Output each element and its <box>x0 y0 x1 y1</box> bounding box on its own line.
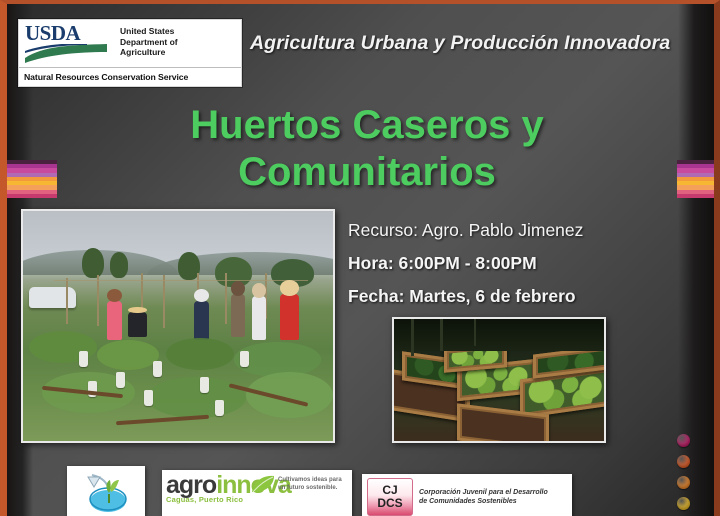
presentation-slide: USDA United States Department of Agricul… <box>0 0 720 516</box>
community-garden-scene <box>23 211 333 441</box>
community-garden-photo <box>21 209 335 443</box>
usda-line-2: Department of <box>120 37 178 48</box>
usda-agency-lines: United States Department of Agriculture <box>111 23 178 67</box>
page-title-line-2: Comunitarios <box>67 149 667 196</box>
agroinnova-tagline-line-1: Cultivamos ideas para <box>278 477 350 485</box>
cjdcs-initials-mark: CJ DCS <box>367 478 413 516</box>
decorative-stripes-right <box>677 160 720 198</box>
detail-fecha: Fecha: Martes, 6 de febrero <box>348 286 688 307</box>
raised-beds-photo <box>392 317 606 443</box>
usda-line-3: Agriculture <box>120 47 178 58</box>
car-in-photo <box>29 287 76 308</box>
raised-beds-scene <box>394 319 604 441</box>
cjdcs-name-line-1: Corporación Juvenil para el Desarrollo <box>419 488 548 497</box>
agroinnova-tagline: Cultivamos ideas para un futuro sostenib… <box>278 475 350 492</box>
cjdcs-logo: CJ DCS Corporación Juvenil para el Desar… <box>362 474 572 516</box>
agroinnova-logo: agroinnova Cultivamos ideas para un futu… <box>162 470 352 516</box>
detail-recurso: Recurso: Agro. Pablo Jimenez <box>348 220 688 241</box>
usda-wordmark-block: USDA <box>25 23 111 67</box>
event-details: Recurso: Agro. Pablo Jimenez Hora: 6:00P… <box>348 220 688 307</box>
detail-hora: Hora: 6:00PM - 8:00PM <box>348 253 688 274</box>
water-drop-plant-logo <box>67 466 145 516</box>
usda-nrcs-label: Natural Resources Conservation Service <box>19 67 241 85</box>
cjdcs-initials-line-2: DCS <box>377 497 402 510</box>
header-title: Agricultura Urbana y Producción Innovado… <box>250 32 710 55</box>
cjdcs-name-line-2: de Comunidades Sostenibles <box>419 497 548 506</box>
decorative-stripes-left <box>7 160 57 198</box>
page-title-line-1: Huertos Caseros y <box>67 102 667 149</box>
agroinnova-tagline-line-2: un futuro sostenible. <box>278 485 350 493</box>
usda-wordmark-text: USDA <box>25 23 111 43</box>
dot-magenta <box>677 434 690 447</box>
usda-swoosh-icon <box>25 44 109 64</box>
stripe-8 <box>677 194 720 198</box>
page-title: Huertos Caseros y Comunitarios <box>67 102 667 196</box>
usda-logo: USDA United States Department of Agricul… <box>18 19 242 87</box>
stripe-8 <box>7 194 57 198</box>
sponsor-logo-row: agroinnova Cultivamos ideas para un futu… <box>7 466 720 516</box>
cjdcs-name-text: Corporación Juvenil para el Desarrollo d… <box>413 488 548 506</box>
leaf-icon <box>250 474 276 494</box>
water-drop-plant-icon <box>78 471 134 515</box>
usda-line-1: United States <box>120 26 178 37</box>
